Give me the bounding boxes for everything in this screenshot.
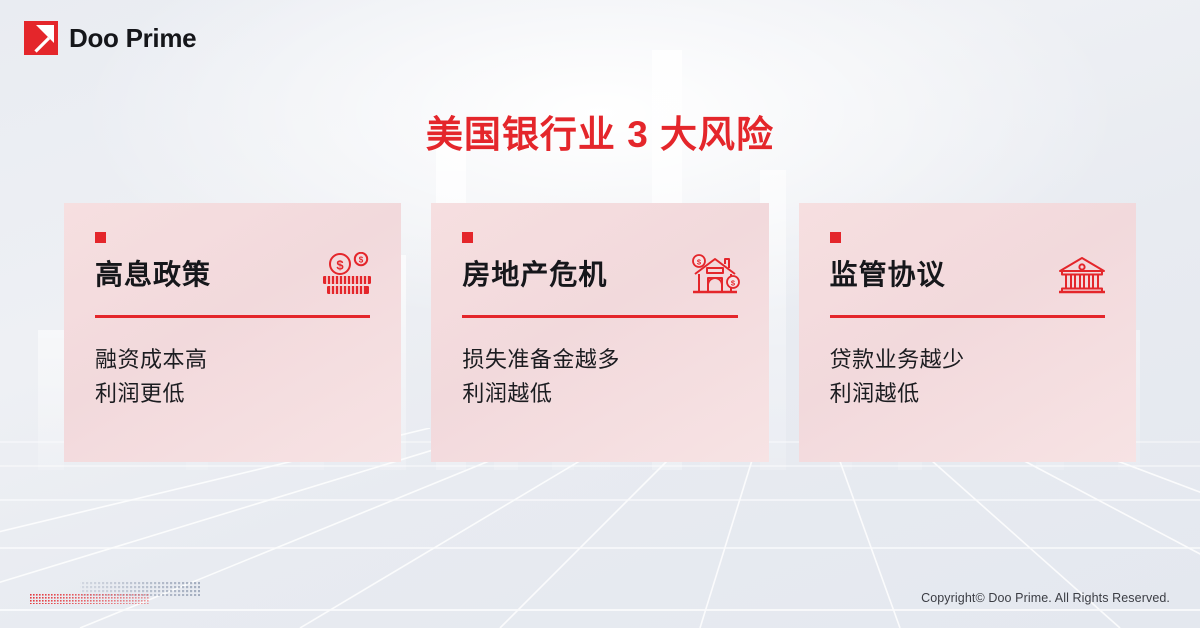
square-bullet-icon <box>95 232 106 243</box>
dot-matrix-decoration-icon <box>30 582 230 610</box>
square-bullet-icon <box>462 232 473 243</box>
card-divider <box>462 315 737 318</box>
card-body-line: 融资成本高 <box>95 343 401 377</box>
card-divider <box>830 315 1105 318</box>
card-body-line: 贷款业务越少 <box>830 343 1136 377</box>
card-body-line: 利润越低 <box>462 377 768 411</box>
brand-name: Doo Prime <box>69 23 196 54</box>
house-dollar-icon: $ $ <box>687 252 743 298</box>
svg-text:$: $ <box>337 258 345 273</box>
card-body-line: 利润更低 <box>95 377 401 411</box>
card-title: 监管协议 <box>830 259 946 291</box>
risk-cards-row: 高息政策 $ $ <box>64 203 1136 462</box>
card-header: 房地产危机 <box>462 252 768 298</box>
card-body: 损失准备金越多 利润越低 <box>462 343 768 411</box>
risk-card-high-interest-policy[interactable]: 高息政策 $ $ <box>64 203 401 462</box>
card-body: 贷款业务越少 利润越低 <box>830 343 1136 411</box>
card-title: 高息政策 <box>95 259 211 291</box>
svg-text:$: $ <box>359 256 364 265</box>
brand-logo[interactable]: Doo Prime <box>24 21 196 55</box>
risk-card-regulatory-agreement[interactable]: 监管协议 <box>799 203 1136 462</box>
card-body: 融资成本高 利润更低 <box>95 343 401 411</box>
card-body-line: 损失准备金越多 <box>462 343 768 377</box>
page-title: 美国银行业 3 大风险 <box>0 104 1200 158</box>
slide-canvas: Doo Prime 美国银行业 3 大风险 高息政策 $ $ <box>0 0 1200 628</box>
risk-card-real-estate-crisis[interactable]: 房地产危机 <box>431 203 768 462</box>
copyright-text: Copyright© Doo Prime. All Rights Reserve… <box>921 591 1170 605</box>
doo-prime-logo-mark-icon <box>24 21 58 55</box>
card-body-line: 利润越低 <box>830 377 1136 411</box>
card-header: 高息政策 $ $ <box>95 252 401 298</box>
coins-stack-dollar-icon: $ $ <box>319 252 375 298</box>
card-title: 房地产危机 <box>462 259 607 291</box>
card-divider <box>95 315 370 318</box>
card-header: 监管协议 <box>830 252 1136 298</box>
bank-building-icon <box>1054 252 1110 298</box>
square-bullet-icon <box>830 232 841 243</box>
